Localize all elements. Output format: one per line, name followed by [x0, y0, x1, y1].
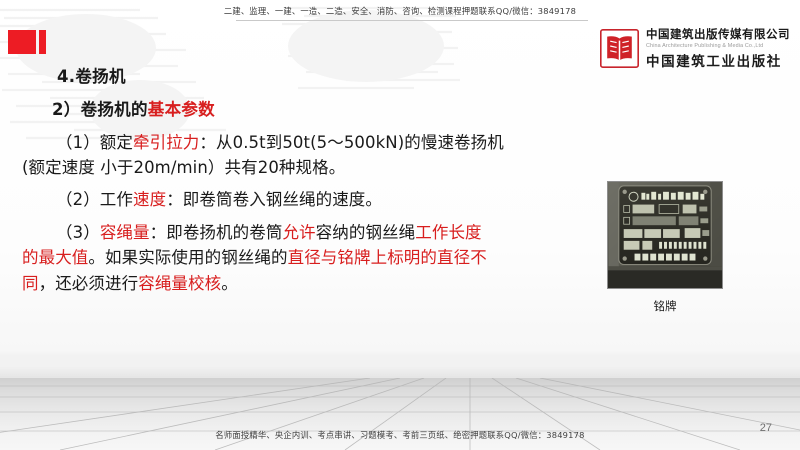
run-text: ：即卷筒卷入钢丝绳的速度。: [166, 190, 382, 209]
run-text-emphasis: 直径与铭牌上标明的直径不: [288, 248, 487, 267]
section-subheading-emphasis: 基本参数: [148, 100, 215, 119]
run-text: （1）额定: [56, 133, 133, 152]
run-text: 容纳的钢丝绳: [316, 223, 416, 242]
run-text: 。如果实际使用的钢丝绳的: [88, 248, 287, 267]
page-number: 27: [760, 422, 772, 434]
paragraph-1-line-2: (额定速度 小于20m/min）共有20种规格。: [22, 156, 800, 179]
open-book-icon: [600, 29, 639, 68]
run-text-emphasis: 允许: [282, 223, 315, 242]
run-text: （2）工作: [56, 190, 133, 209]
run-text-emphasis: 的最大值: [22, 248, 88, 267]
figure-block: 铭牌: [607, 181, 723, 314]
slide-canvas: 二建、监理、一建、一造、二造、安全、消防、咨询、检测课程押题联系QQ/微信：38…: [0, 0, 800, 450]
figure-caption: 铭牌: [607, 298, 723, 314]
run-text-emphasis: 容绳量校核: [138, 274, 221, 293]
run-text: ，还必须进行: [39, 274, 139, 293]
footer-text: 名师面授精华、央企内训、考点串讲、习题模考、考前三页纸、绝密押题联系QQ/微信：…: [0, 429, 800, 441]
run-text-emphasis: 同: [22, 274, 39, 293]
top-banner-text: 二建、监理、一建、一造、二造、安全、消防、咨询、检测课程押题联系QQ/微信：38…: [224, 5, 576, 17]
run-text: (额定速度 小于20m/min）共有20种规格。: [22, 158, 345, 177]
winch-nameplate-photo: [607, 181, 723, 289]
run-text-emphasis: 牵引拉力: [133, 133, 199, 152]
publisher-company-en: China Architecture Publishing & Media Co…: [646, 43, 790, 49]
top-banner: 二建、监理、一建、一造、二造、安全、消防、咨询、检测课程押题联系QQ/微信：38…: [0, 0, 800, 22]
run-text-emphasis: 工作长度: [415, 223, 481, 242]
publisher-logo-text: 中国建筑出版传媒有限公司 China Architecture Publishi…: [646, 26, 790, 70]
section-subheading: 2）卷扬机的基本参数: [52, 99, 800, 121]
run-text-emphasis: 容绳量: [100, 223, 150, 242]
accent-block-large: [8, 30, 36, 54]
publisher-company-cn: 中国建筑出版传媒有限公司: [646, 26, 790, 42]
run-text: ：即卷扬机的卷筒: [150, 223, 283, 242]
run-text: ：从0.5t到50t(5～500kN)的慢速卷扬机: [199, 133, 503, 152]
page-title: 4.卷扬机: [57, 66, 800, 88]
accent-block-small: [39, 30, 46, 54]
run-text: 。: [221, 274, 238, 293]
wall-shadow: [0, 366, 800, 378]
publisher-logo: 中国建筑出版传媒有限公司 China Architecture Publishi…: [600, 26, 790, 70]
top-banner-divider: [236, 20, 588, 21]
run-text-emphasis: 速度: [133, 190, 166, 209]
run-text: （3）: [56, 223, 100, 242]
paragraph-1-line-1: （1）额定牵引拉力：从0.5t到50t(5～500kN)的慢速卷扬机: [56, 131, 800, 154]
section-subheading-plain: 2）卷扬机的: [52, 100, 148, 119]
